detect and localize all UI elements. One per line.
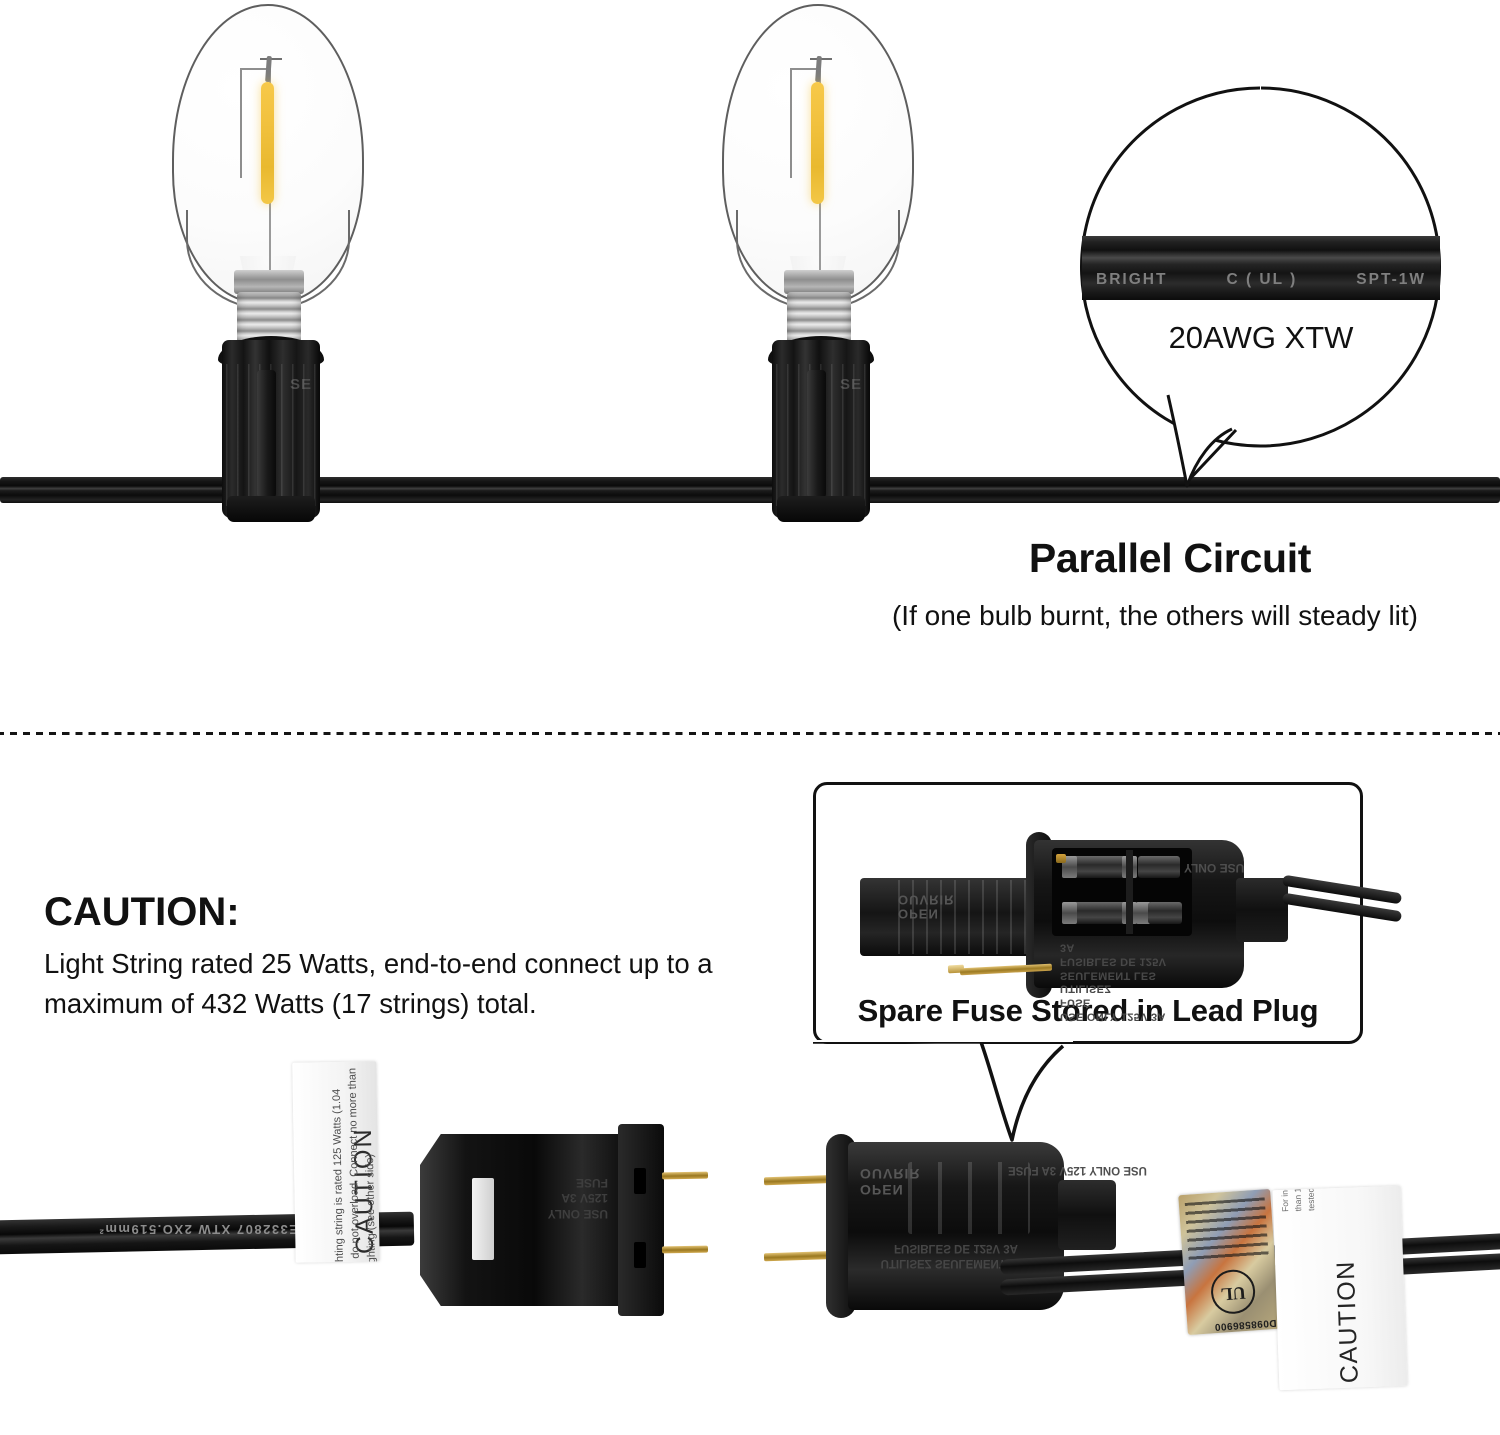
female-side-prong-1: [662, 1172, 708, 1180]
female-side-prong-2: [662, 1246, 708, 1254]
fuse-divider-wall: [1126, 850, 1133, 934]
parallel-circuit-title: Parallel Circuit: [860, 535, 1480, 582]
fuse-spare-right: [1138, 856, 1180, 878]
right-tag-body: For indoor and outdoor use. Do not use w…: [1273, 1186, 1318, 1212]
socket-release-tab: [257, 370, 276, 498]
plug-open-embossing: OPEN OUVRIR: [898, 892, 955, 921]
wire-gauge-label: 20AWG XTW: [1082, 320, 1440, 356]
infographic-canvas: SE SE BRIGHT: [0, 0, 1500, 1435]
male-plug-strain-relief: [1058, 1180, 1116, 1250]
fuse-cavity: [1052, 848, 1192, 936]
tag-caution-body: This lighting string is rated 125 Watts …: [329, 1066, 379, 1263]
female-connector-embossing: USE ONLY 125V 3A FUSE: [528, 1174, 608, 1221]
bulb-base-collar: [784, 270, 854, 294]
bulb-assembly-1: SE: [148, 0, 388, 528]
ul-mark: UL: [1210, 1268, 1257, 1315]
female-connector-slot-1: [634, 1168, 646, 1194]
right-tag-title: CAUTION: [1329, 1186, 1365, 1384]
fuse-cartridge-3: [1148, 902, 1182, 924]
cable-body: [1082, 236, 1440, 300]
opened-lead-plug-photo: OPEN OUVRIR USE ONLY 125V 3A FUSE UTILIS…: [838, 820, 1328, 980]
plug-strain-relief: [1236, 878, 1288, 942]
led-filament: [261, 82, 274, 204]
plug-use-only-embossing: USE ONLY: [1184, 860, 1244, 875]
fuse-contact-brass: [1056, 854, 1066, 863]
female-end-connector: USE ONLY 125V 3A FUSE: [420, 1120, 700, 1320]
filament-support-arm-left: [240, 68, 242, 178]
plug-open-text: OPEN: [898, 906, 955, 920]
male-plug-open-embossing: OPEN OUVRIR: [860, 1166, 920, 1198]
plug-rating-line1: USE ONLY 125V 3A FUSE: [1060, 995, 1184, 1023]
hologram-texture: [1185, 1197, 1269, 1262]
male-plug-use-only-embossing: USE ONLY 125V 3A FUSE: [1008, 1162, 1147, 1177]
male-plug-open-text: OPEN: [860, 1182, 920, 1198]
female-end-caution-tag: CAUTION This lighting string is rated 12…: [292, 1061, 379, 1262]
male-end-caution-tag: CAUTION For indoor and outdoor use. Do n…: [1273, 1186, 1408, 1390]
bulb-base-collar: [234, 270, 304, 294]
female-connector-notch: [472, 1178, 494, 1260]
filament-support-arm-left: [790, 68, 792, 178]
cable-marking-brand: BRIGHT: [1096, 271, 1167, 289]
socket-release-tab: [807, 370, 826, 498]
tag-inner: CAUTION This lighting string is rated 12…: [292, 1061, 379, 1262]
led-filament: [811, 82, 824, 204]
socket-foot: [227, 496, 315, 522]
caution-body-text: Light String rated 25 Watts, end-to-end …: [44, 944, 734, 1024]
bulb-assembly-2: SE: [698, 0, 938, 528]
fuse-cap-2a: [1062, 902, 1077, 924]
female-connector-face: [618, 1124, 664, 1316]
plug-rating-line2: UTILISEZ SEULEMENT LES FUSIBLES DE 125V …: [1060, 940, 1184, 995]
cable-printed-markings: BRIGHT C ( UL ) SPT-1W: [1096, 271, 1426, 289]
cable-marking-spt: SPT-1W: [1356, 271, 1426, 289]
socket-foot: [777, 496, 865, 522]
callout-cable-closeup: BRIGHT C ( UL ) SPT-1W: [1082, 236, 1440, 300]
male-lead-plug: OPEN OUVRIR USE ONLY 125V 3A FUSE UTILIS…: [812, 1128, 1152, 1324]
ul-hologram-label: UL D098586900: [1178, 1189, 1280, 1335]
section-divider: [0, 732, 1500, 735]
ul-label-code: D098586900: [1195, 1316, 1280, 1334]
male-plug-ouvrir-text: OUVRIR: [860, 1166, 920, 1182]
wire-spec-callout-bubble: BRIGHT C ( UL ) SPT-1W 20AWG XTW: [1082, 88, 1440, 446]
plug-rating-embossing: USE ONLY 125V 3A FUSE UTILISEZ SEULEMENT…: [1060, 940, 1184, 1023]
parallel-circuit-subtitle: (If one bulb burnt, the others will stea…: [820, 600, 1490, 632]
cable-marking-cul: C ( UL ): [1226, 271, 1297, 289]
female-connector-slot-2: [634, 1242, 646, 1268]
plug-ouvrir-text: OUVRIR: [898, 892, 955, 906]
caution-heading: CAUTION:: [44, 890, 240, 935]
